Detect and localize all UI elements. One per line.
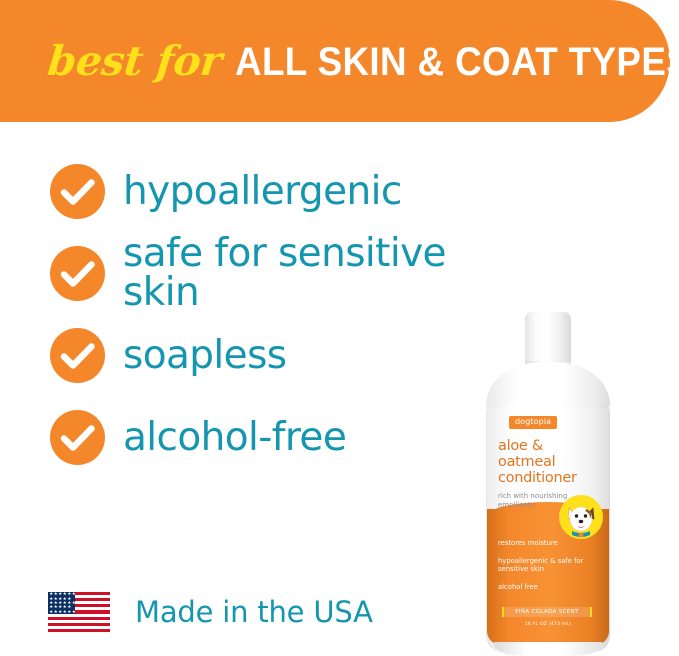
bottle-cap xyxy=(525,312,571,364)
bottle-shoulder xyxy=(486,362,610,410)
brand-logo: dogtopia xyxy=(509,416,557,429)
product-claim: restores moisture xyxy=(498,539,594,548)
bottle-base xyxy=(494,642,602,656)
check-circle-icon xyxy=(50,410,105,465)
benefit-label: alcohol-free xyxy=(123,418,346,457)
check-circle-icon xyxy=(50,328,105,383)
dog-illustration-icon xyxy=(556,492,606,542)
benefit-label: soapless xyxy=(123,336,287,375)
banner-headline: ALL SKIN & COAT TYPES xyxy=(235,40,679,85)
net-weight-label: 16 FL OZ (473 mL) xyxy=(498,622,598,627)
list-item: hypoallergenic xyxy=(50,150,520,232)
usa-flag-icon: ★★★★★★★★★★★★★★★★★★★★★★★★★★★★ xyxy=(48,592,110,632)
list-item: alcohol-free xyxy=(50,396,520,478)
benefit-label: safe for sensitive skin xyxy=(123,234,520,312)
benefits-list: hypoallergenic safe for sensitive skin s… xyxy=(50,150,520,478)
check-circle-icon xyxy=(50,164,105,219)
check-circle-icon xyxy=(50,246,105,301)
product-claim: hypoallergenic & safe for sensitive skin xyxy=(498,557,594,574)
made-in-usa-label: Made in the USA xyxy=(135,598,373,627)
header-banner: best for ALL SKIN & COAT TYPES xyxy=(0,0,670,122)
product-name-line-1: aloe & xyxy=(498,438,602,454)
scent-strip: PIÑA COLADA SCENT xyxy=(502,607,592,617)
list-item: soapless xyxy=(50,314,520,396)
banner-text-group: best for ALL SKIN & COAT TYPES xyxy=(48,37,679,85)
product-claim: alcohol free xyxy=(498,583,594,592)
product-claims-list: restores moisture hypoallergenic & safe … xyxy=(498,539,594,600)
made-in-usa-badge: ★★★★★★★★★★★★★★★★★★★★★★★★★★★★ Made in the… xyxy=(48,592,373,632)
product-name: aloe & oatmeal conditioner xyxy=(498,438,602,486)
benefit-label: hypoallergenic xyxy=(123,172,402,211)
list-item: safe for sensitive skin xyxy=(50,232,520,314)
product-name-line-2: oatmeal xyxy=(498,454,602,470)
product-bottle-image: dogtopia aloe & oatmeal conditioner rich… xyxy=(484,312,612,656)
banner-script-text: best for xyxy=(45,37,224,85)
product-name-line-3: conditioner xyxy=(498,470,602,486)
